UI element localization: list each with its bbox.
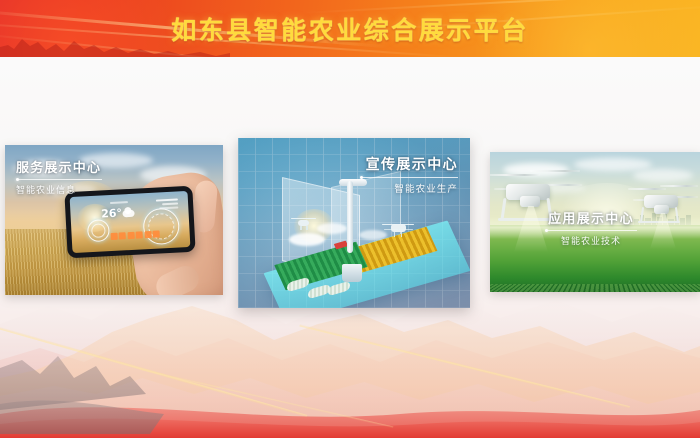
- hud-bar: [159, 206, 178, 209]
- drone-icon: [291, 215, 317, 227]
- crop-furrow-rows: [490, 284, 700, 292]
- smartphone-device: 26°: [64, 185, 195, 258]
- card-application-photo: 应用展示中心 智能农业技术: [490, 152, 700, 292]
- hud-bar: [110, 201, 128, 204]
- hud-temperature-value: 26°: [101, 206, 122, 220]
- drone-icon: [382, 220, 416, 236]
- divider-dot-icon: [545, 229, 548, 232]
- card-service-display-center[interactable]: 26° 服务展示中心 智能农业信息: [5, 145, 223, 295]
- card-service-text-block: 服务展示中心 智能农业信息: [16, 157, 102, 196]
- card-service-title: 服务展示中心: [16, 157, 102, 176]
- card-service-subtitle: 智能农业信息: [16, 183, 102, 196]
- page-title: 如东县智能农业综合展示平台: [0, 0, 700, 57]
- card-promotion-display-center[interactable]: 宣传展示中心 智能农业生产: [238, 138, 470, 308]
- card-promotion-title: 宣传展示中心: [360, 154, 458, 174]
- drone-icon: [628, 182, 700, 230]
- phone-screen: 26°: [70, 190, 191, 252]
- card-application-subtitle: 智能农业技术: [545, 234, 637, 247]
- hud-bar: [156, 198, 178, 201]
- divider-dot-icon: [16, 178, 19, 181]
- card-application-text-block: 应用展示中心 智能农业技术: [545, 208, 637, 247]
- hud-bar: [162, 202, 178, 205]
- title-divider: [360, 177, 458, 178]
- irrigation-pole: [347, 181, 353, 253]
- divider-dot-icon: [360, 176, 363, 179]
- header-banner: 如东县智能农业综合展示平台: [0, 0, 700, 57]
- card-promotion-photo: 宣传展示中心 智能农业生产: [238, 138, 470, 308]
- cloud-icon: [633, 169, 693, 182]
- card-promotion-subtitle: 智能农业生产: [360, 181, 458, 195]
- card-promotion-text-block: 宣传展示中心 智能农业生产: [360, 154, 458, 195]
- card-application-title: 应用展示中心: [545, 208, 637, 227]
- title-divider: [545, 230, 637, 231]
- card-service-photo: 26° 服务展示中心 智能农业信息: [5, 145, 223, 295]
- thumb: [152, 262, 203, 295]
- card-application-display-center[interactable]: 应用展示中心 智能农业技术: [490, 152, 700, 292]
- title-divider: [16, 179, 102, 180]
- app-stage: 如东县智能农业综合展示平台: [0, 0, 700, 438]
- water-bucket: [342, 264, 362, 282]
- hud-cloud-icon: [122, 209, 134, 217]
- hud-gauge-inner-icon: [91, 223, 106, 238]
